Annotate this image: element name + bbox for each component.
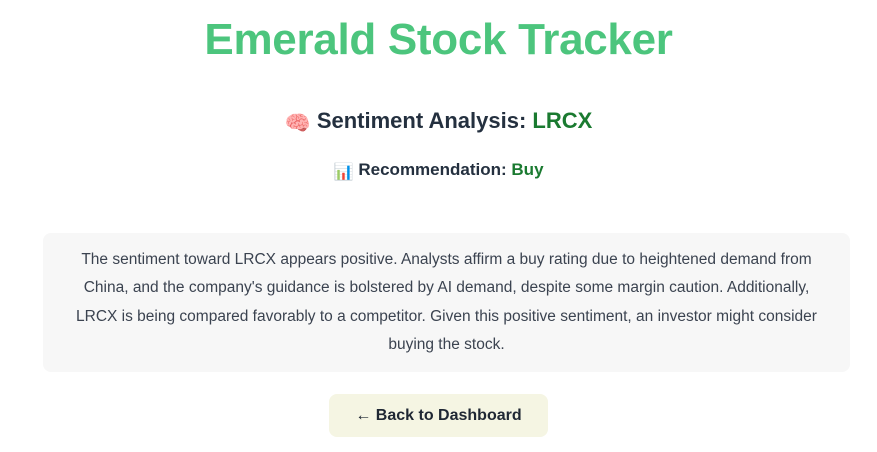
sentiment-analysis-label: Sentiment Analysis:: [317, 108, 526, 133]
summary-text: The sentiment toward LRCX appears positi…: [71, 246, 822, 359]
sentiment-analysis-heading: 🧠Sentiment Analysis: LRCX: [0, 67, 877, 137]
recommendation-label: Recommendation:: [358, 160, 506, 179]
action-row: ← Back to Dashboard: [0, 394, 877, 437]
page-title: Emerald Stock Tracker: [0, 0, 877, 67]
summary-card: The sentiment toward LRCX appears positi…: [43, 233, 850, 372]
ticker-symbol: LRCX: [532, 108, 592, 133]
sentiment-analysis-page: Emerald Stock Tracker 🧠Sentiment Analysi…: [0, 0, 877, 452]
brain-icon: 🧠: [285, 112, 311, 135]
bar-chart-icon: 📊: [333, 164, 353, 181]
recommendation-value: Buy: [511, 160, 543, 179]
back-to-dashboard-button[interactable]: ← Back to Dashboard: [329, 394, 547, 437]
recommendation-row: 📊Recommendation: Buy: [0, 137, 877, 184]
